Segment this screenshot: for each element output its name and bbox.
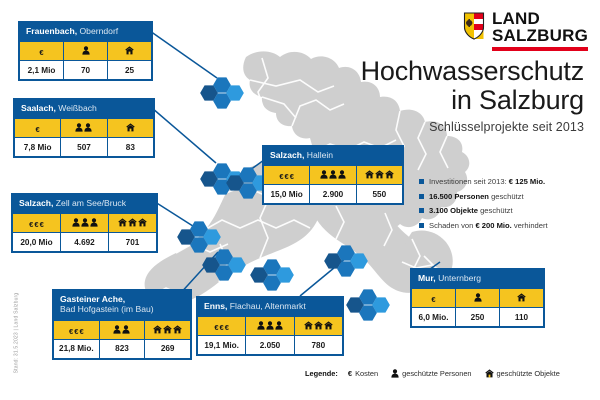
card-header-mur-unternberg: Mur, Unternberg bbox=[411, 269, 544, 288]
euro-icon: €€€ bbox=[214, 324, 229, 332]
object-value: 83 bbox=[107, 138, 153, 157]
object-icon-cell bbox=[108, 42, 152, 61]
euro-icon: €€€ bbox=[279, 173, 294, 181]
card-table-salzach-zell-am-see-bruck: €€€20,0 Mio4.692701 bbox=[12, 213, 157, 252]
card-table-frauenbach-oberndorf: €2,1 Mio7025 bbox=[19, 41, 152, 80]
legend-label: Legende: bbox=[305, 369, 338, 378]
card-value-row: 6,0 Mio.250110 bbox=[412, 308, 544, 327]
person-icon bbox=[113, 325, 130, 334]
cost-value: 15,0 Mio bbox=[264, 185, 310, 204]
euro-icon: €€€ bbox=[29, 221, 44, 229]
person-icon bbox=[72, 218, 98, 227]
key-fact-text: 3.100 Objekte geschützt bbox=[429, 206, 513, 215]
cost-value: 19,1 Mio. bbox=[198, 336, 246, 355]
key-fact-4: Schaden von € 200 Mio. verhindert bbox=[419, 221, 594, 230]
object-icon-cell bbox=[107, 119, 153, 138]
person-value: 507 bbox=[61, 138, 107, 157]
bullet-square-icon bbox=[419, 179, 424, 184]
project-card-enns-flachau-altenmarkt[interactable]: Enns, Flachau, Altenmarkt€€€19,1 Mio.2.0… bbox=[196, 296, 344, 356]
euro-icon: €€€ bbox=[69, 328, 84, 336]
logo-line-1: LAND bbox=[492, 10, 588, 27]
person-icon bbox=[82, 46, 90, 55]
headline-block: Hochwasserschutz in Salzburg Schlüsselpr… bbox=[361, 57, 584, 134]
object-value: 269 bbox=[145, 339, 191, 358]
card-header-enns-flachau-altenmarkt: Enns, Flachau, Altenmarkt bbox=[197, 297, 343, 316]
project-card-salzach-hallein[interactable]: Salzach, Hallein€€€15,0 Mio2.900550 bbox=[262, 145, 404, 205]
card-value-row: 7,8 Mio50783 bbox=[15, 138, 154, 157]
object-icon-cell bbox=[294, 317, 342, 336]
project-card-salzach-zell-am-see-bruck[interactable]: Salzach, Zell am See/Bruck€€€20,0 Mio4.6… bbox=[11, 193, 158, 253]
person-icon-cell bbox=[99, 320, 145, 339]
key-fact-3: 3.100 Objekte geschützt bbox=[419, 206, 594, 215]
project-card-frauenbach-oberndorf[interactable]: Frauenbach, Oberndorf€2,1 Mio7025 bbox=[18, 21, 153, 81]
card-table-gasteiner-ache-bad-hofgastein: €€€21,8 Mio.823269 bbox=[53, 320, 191, 359]
card-table-saalach-weissbach: €7,8 Mio50783 bbox=[14, 118, 154, 157]
object-value: 780 bbox=[294, 336, 342, 355]
cost-icon-cell: €€€ bbox=[13, 214, 61, 233]
card-value-row: 2,1 Mio7025 bbox=[20, 61, 152, 80]
object-icon-cell bbox=[109, 214, 157, 233]
key-fact-2: 16.500 Personen geschützt bbox=[419, 192, 594, 201]
infographic-canvas: LAND SALZBURG Hochwasserschutz in Salzbu… bbox=[0, 0, 600, 400]
euro-icon: € bbox=[348, 370, 352, 378]
card-header-gasteiner-ache-bad-hofgastein: Gasteiner Ache,Bad Hofgastein (im Bau) bbox=[53, 290, 191, 320]
project-card-mur-unternberg[interactable]: Mur, Unternberg€6,0 Mio.250110 bbox=[410, 268, 545, 328]
person-value: 2.050 bbox=[246, 336, 294, 355]
legend-item-house: geschützte Objekte bbox=[485, 369, 560, 378]
card-table-salzach-hallein: €€€15,0 Mio2.900550 bbox=[263, 165, 403, 204]
card-table-mur-unternberg: €6,0 Mio.250110 bbox=[411, 288, 544, 327]
house-icon bbox=[365, 170, 394, 179]
key-fact-text: Investitionen seit 2013: € 125 Mio. bbox=[429, 177, 545, 186]
card-value-row: 15,0 Mio2.900550 bbox=[264, 185, 403, 204]
bullet-square-icon bbox=[419, 208, 424, 213]
bullet-square-icon bbox=[419, 223, 424, 228]
card-header-saalach-weissbach: Saalach, Weißbach bbox=[14, 99, 154, 118]
card-icon-row: €€€ bbox=[264, 166, 403, 185]
person-icon-cell bbox=[456, 289, 500, 308]
euro-icon: € bbox=[36, 126, 40, 134]
person-icon-cell bbox=[64, 42, 108, 61]
euro-icon: € bbox=[431, 296, 435, 304]
cost-icon-cell: €€€ bbox=[198, 317, 246, 336]
salzburg-coat-of-arms-icon bbox=[463, 10, 485, 40]
cost-icon-cell: € bbox=[20, 42, 64, 61]
cost-value: 21,8 Mio. bbox=[54, 339, 100, 358]
source-credit: Stand: 31.5.2023 | Land Salzburg bbox=[14, 286, 20, 381]
cost-icon-cell: € bbox=[15, 119, 61, 138]
legend-item-person: geschützte Personen bbox=[391, 369, 471, 378]
object-icon-cell bbox=[500, 289, 544, 308]
legend-item-label: geschützte Objekte bbox=[497, 369, 560, 378]
card-value-row: 19,1 Mio.2.050780 bbox=[198, 336, 343, 355]
logo-accent-rule bbox=[492, 47, 588, 51]
card-value-row: 21,8 Mio.823269 bbox=[54, 339, 191, 358]
cost-icon-cell: €€€ bbox=[264, 166, 310, 185]
card-header-salzach-hallein: Salzach, Hallein bbox=[263, 146, 403, 165]
person-icon bbox=[320, 170, 346, 179]
legend-item-euro: €Kosten bbox=[348, 369, 378, 378]
card-icon-row: €€€ bbox=[54, 320, 191, 339]
cost-icon-cell: €€€ bbox=[54, 320, 100, 339]
euro-icon: € bbox=[39, 49, 43, 57]
land-salzburg-logo: LAND SALZBURG bbox=[463, 10, 588, 51]
key-fact-text: 16.500 Personen geschützt bbox=[429, 192, 524, 201]
house-icon bbox=[125, 46, 134, 55]
person-value: 70 bbox=[64, 61, 108, 80]
object-value: 701 bbox=[109, 233, 157, 252]
cost-value: 7,8 Mio bbox=[15, 138, 61, 157]
card-header-salzach-zell-am-see-bruck: Salzach, Zell am See/Bruck bbox=[12, 194, 157, 213]
house-icon bbox=[485, 369, 494, 378]
person-icon bbox=[75, 123, 92, 132]
person-icon-cell bbox=[310, 166, 356, 185]
card-table-enns-flachau-altenmarkt: €€€19,1 Mio.2.050780 bbox=[197, 316, 343, 355]
key-facts-list: Investitionen seit 2013: € 125 Mio.16.50… bbox=[419, 177, 594, 235]
house-icon bbox=[126, 123, 135, 132]
house-icon bbox=[118, 218, 147, 227]
card-icon-row: € bbox=[412, 289, 544, 308]
house-icon bbox=[517, 293, 526, 302]
object-value: 25 bbox=[108, 61, 152, 80]
person-icon bbox=[474, 293, 482, 302]
logo-line-2: SALZBURG bbox=[492, 27, 588, 44]
connector-frauenbach bbox=[150, 31, 217, 78]
legend-item-label: Kosten bbox=[355, 369, 378, 378]
cost-icon-cell: € bbox=[412, 289, 456, 308]
project-card-gasteiner-ache-bad-hofgastein[interactable]: Gasteiner Ache,Bad Hofgastein (im Bau)€€… bbox=[52, 289, 192, 360]
legend-item-label: geschützte Personen bbox=[402, 369, 471, 378]
page-title-line-2: in Salzburg bbox=[361, 86, 584, 115]
card-icon-row: € bbox=[15, 119, 154, 138]
object-icon-cell bbox=[145, 320, 191, 339]
person-icon bbox=[257, 321, 283, 330]
object-value: 550 bbox=[356, 185, 402, 204]
person-value: 2.900 bbox=[310, 185, 356, 204]
page-title-line-1: Hochwasserschutz bbox=[361, 57, 584, 86]
card-header-frauenbach-oberndorf: Frauenbach, Oberndorf bbox=[19, 22, 152, 41]
person-value: 823 bbox=[99, 339, 145, 358]
object-value: 110 bbox=[500, 308, 544, 327]
cost-value: 6,0 Mio. bbox=[412, 308, 456, 327]
cost-value: 2,1 Mio bbox=[20, 61, 64, 80]
legend: Legende: €Kostengeschützte Personengesch… bbox=[305, 369, 567, 378]
key-fact-1: Investitionen seit 2013: € 125 Mio. bbox=[419, 177, 594, 186]
person-icon bbox=[391, 369, 399, 378]
house-icon bbox=[304, 321, 333, 330]
person-icon-cell bbox=[61, 119, 107, 138]
card-icon-row: €€€ bbox=[13, 214, 157, 233]
person-value: 250 bbox=[456, 308, 500, 327]
person-value: 4.692 bbox=[61, 233, 109, 252]
card-icon-row: € bbox=[20, 42, 152, 61]
object-icon-cell bbox=[356, 166, 402, 185]
page-subtitle: Schlüsselprojekte seit 2013 bbox=[361, 120, 584, 134]
house-icon bbox=[153, 325, 182, 334]
bullet-square-icon bbox=[419, 194, 424, 199]
cost-value: 20,0 Mio bbox=[13, 233, 61, 252]
project-card-saalach-weissbach[interactable]: Saalach, Weißbach€7,8 Mio50783 bbox=[13, 98, 155, 158]
key-fact-text: Schaden von € 200 Mio. verhindert bbox=[429, 221, 548, 230]
card-value-row: 20,0 Mio4.692701 bbox=[13, 233, 157, 252]
card-icon-row: €€€ bbox=[198, 317, 343, 336]
person-icon-cell bbox=[246, 317, 294, 336]
person-icon-cell bbox=[61, 214, 109, 233]
